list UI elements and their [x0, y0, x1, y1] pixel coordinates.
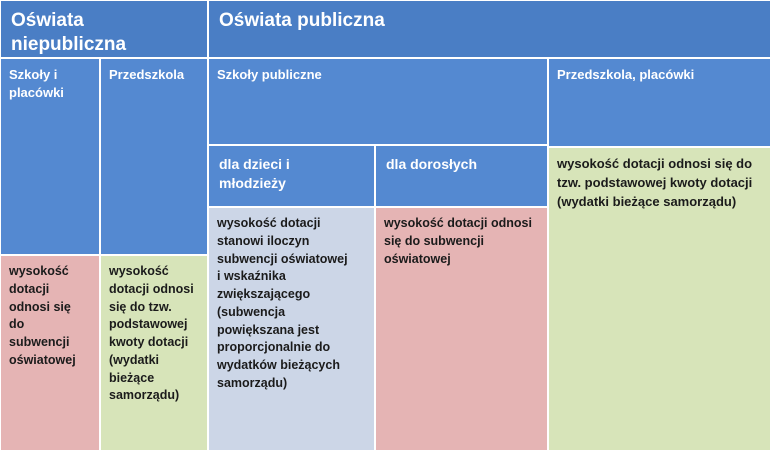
header-szkoly-publiczne-label: Szkoły publiczne: [217, 66, 539, 84]
body-cell-non-public-preschools-text: wysokość dotacji odnosi się do tzw. pods…: [109, 263, 199, 405]
body-cell-non-public-preschools: wysokość dotacji odnosi się do tzw. pods…: [100, 255, 208, 451]
body-cell-non-public-schools: wysokość dotacji odnosi się do subwencji…: [0, 255, 100, 451]
header-dla-doroslych-label: dla dorosłych: [386, 155, 537, 174]
header-oswiata-niepubliczna-label: Oświata niepubliczna: [11, 9, 197, 58]
header-oswiata-publiczna-label: Oświata publiczna: [219, 9, 760, 33]
body-cell-non-public-schools-text: wysokość dotacji odnosi się do subwencji…: [9, 263, 91, 370]
header-przedszkola-placowki-label: Przedszkola, placówki: [557, 66, 762, 84]
header-oswiata-niepubliczna: Oświata niepubliczna: [0, 0, 208, 58]
body-cell-public-schools-children: wysokość dotacji stanowi iloczyn subwenc…: [208, 207, 375, 451]
header-szkoly-i-placowki: Szkoły i placówki: [0, 58, 100, 255]
header-oswiata-publiczna: Oświata publiczna: [208, 0, 771, 58]
header-szkoly-i-placowki-label: Szkoły i placówki: [9, 66, 91, 101]
body-cell-public-schools-children-text: wysokość dotacji stanowi iloczyn subwenc…: [217, 215, 366, 393]
header-przedszkola: Przedszkola: [100, 58, 208, 255]
body-cell-public-preschools-text: wysokość dotacji odnosi się do tzw. pods…: [557, 155, 762, 212]
header-przedszkola-label: Przedszkola: [109, 66, 199, 84]
header-dla-dzieci-i-mlodziezy-label: dla dzieci i młodzieży: [219, 155, 364, 193]
header-szkoly-publiczne: Szkoły publiczne: [208, 58, 548, 145]
body-cell-public-schools-adults: wysokość dotacji odnosi się do subwencji…: [375, 207, 548, 451]
comparison-table: Oświata niepubliczna Oświata publiczna S…: [0, 0, 771, 458]
body-cell-public-schools-adults-text: wysokość dotacji odnosi się do subwencji…: [384, 215, 539, 268]
body-cell-public-preschools: wysokość dotacji odnosi się do tzw. pods…: [548, 147, 771, 451]
header-dla-doroslych: dla dorosłych: [375, 145, 548, 207]
header-dla-dzieci-i-mlodziezy: dla dzieci i młodzieży: [208, 145, 375, 207]
header-przedszkola-placowki: Przedszkola, placówki: [548, 58, 771, 147]
